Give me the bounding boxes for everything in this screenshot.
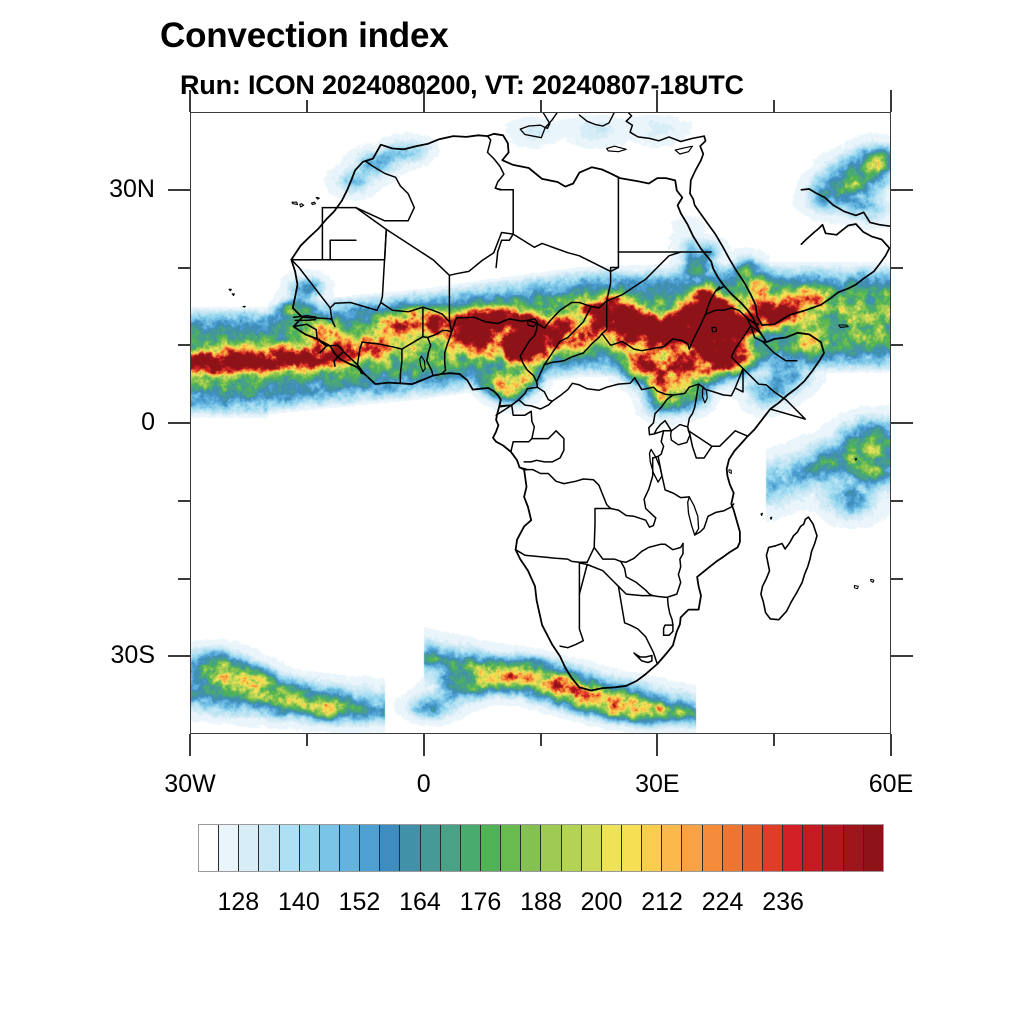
y-axis-label: 30N	[35, 175, 155, 204]
y-tick	[178, 578, 190, 580]
coastline-path	[871, 579, 874, 582]
colorbar-cell[interactable]	[844, 825, 864, 871]
y-tick-right	[891, 344, 903, 346]
coastline-path	[229, 289, 231, 291]
coastline-path	[602, 334, 689, 351]
coastline-path	[626, 112, 743, 142]
x-tick-top	[540, 100, 542, 112]
colorbar-cell[interactable]	[582, 825, 602, 871]
coastline-path	[442, 332, 452, 374]
coastline-path	[635, 369, 743, 396]
coastline-path	[232, 294, 234, 296]
colorbar-cell[interactable]	[682, 825, 702, 871]
coastline-path	[428, 331, 452, 338]
colorbar-cell[interactable]	[300, 825, 320, 871]
coastline-path	[330, 240, 356, 259]
x-tick	[423, 734, 425, 756]
colorbar-cell[interactable]	[239, 825, 259, 871]
colorbar-cell[interactable]	[360, 825, 380, 871]
colorbar-cell[interactable]	[622, 825, 642, 871]
colorbar-cell[interactable]	[743, 825, 763, 871]
colorbar-cell[interactable]	[259, 825, 279, 871]
coastline-path	[688, 427, 748, 446]
coastline-path	[854, 586, 858, 589]
y-tick	[168, 422, 190, 424]
coastline-path	[537, 306, 592, 381]
colorbar[interactable]	[198, 824, 884, 872]
page-title: Convection index	[160, 16, 449, 56]
coastline-path	[801, 189, 891, 226]
coastline-path	[761, 513, 763, 515]
x-tick	[306, 734, 308, 746]
coastline-path	[402, 337, 428, 349]
colorbar-tick-label: 236	[738, 888, 828, 917]
colorbar-cell[interactable]	[340, 825, 360, 871]
y-tick	[178, 500, 190, 502]
coastline-path	[688, 497, 699, 535]
coastline-path	[688, 384, 699, 427]
colorbar-cell[interactable]	[541, 825, 561, 871]
coastline-path	[653, 596, 668, 598]
coastline-path	[300, 204, 304, 207]
colorbar-cell[interactable]	[703, 825, 723, 871]
y-tick-right	[891, 189, 913, 191]
coastline-path	[482, 112, 562, 128]
y-tick	[168, 655, 190, 657]
coastline-path	[560, 563, 653, 648]
coastline-path	[668, 544, 684, 598]
x-axis-label: 0	[354, 770, 494, 799]
colorbar-cell[interactable]	[421, 825, 441, 871]
coastline-path	[611, 173, 619, 177]
y-tick-right	[891, 578, 903, 580]
colorbar-cell[interactable]	[864, 825, 883, 871]
coastline-path	[381, 303, 452, 333]
coastline-path	[511, 405, 534, 452]
colorbar-cell[interactable]	[400, 825, 420, 871]
x-tick	[189, 734, 191, 756]
coastline-path	[579, 565, 587, 595]
coastline-path	[611, 458, 656, 527]
y-tick-right	[891, 267, 903, 269]
colorbar-cell[interactable]	[562, 825, 582, 871]
coastline-path	[330, 229, 386, 310]
coastline-path	[668, 597, 673, 631]
colorbar-cell[interactable]	[501, 825, 521, 871]
colorbar-cell[interactable]	[823, 825, 843, 871]
coastline-path	[690, 194, 762, 325]
colorbar-cell[interactable]	[662, 825, 682, 871]
coastline-path	[316, 198, 319, 200]
colorbar-cell[interactable]	[803, 825, 823, 871]
colorbar-cell[interactable]	[602, 825, 622, 871]
x-tick	[540, 734, 542, 746]
coastline-path	[706, 308, 759, 324]
colorbar-cell[interactable]	[481, 825, 501, 871]
coastline-path	[762, 224, 890, 325]
colorbar-cell[interactable]	[441, 825, 461, 871]
colorbar-cell[interactable]	[320, 825, 340, 871]
coastline-path	[689, 287, 719, 349]
coastline-path	[452, 317, 528, 332]
coastline-path	[635, 378, 642, 390]
coastline-path	[594, 544, 683, 563]
coastline-path	[770, 517, 772, 519]
colorbar-cell[interactable]	[199, 825, 219, 871]
coastline-path	[291, 134, 824, 691]
x-tick	[773, 734, 775, 746]
coastline-path	[330, 308, 332, 320]
figure-root: Convection index Run: ICON 2024080200, V…	[0, 0, 1024, 1024]
y-tick-right	[891, 500, 903, 502]
colorbar-cell[interactable]	[521, 825, 541, 871]
coastline-path	[607, 268, 619, 301]
coastline-path	[658, 456, 689, 497]
coastline-path	[243, 306, 245, 307]
x-tick	[656, 734, 658, 756]
colorbar-cell[interactable]	[763, 825, 783, 871]
coastline-path	[537, 378, 634, 401]
coastline-path	[334, 361, 335, 366]
coastline-path	[358, 342, 402, 383]
x-tick-top	[656, 90, 658, 112]
page-subtitle: Run: ICON 2024080200, VT: 20240807-18UTC	[180, 70, 744, 101]
x-axis-label: 30W	[120, 770, 260, 799]
coastline-path	[675, 146, 692, 154]
colorbar-cell[interactable]	[380, 825, 400, 871]
coastline-path	[520, 125, 545, 138]
y-tick-right	[891, 422, 913, 424]
coastline-path	[618, 586, 657, 664]
x-tick-top	[423, 90, 425, 112]
map-plot-area	[190, 112, 891, 734]
coastline-path	[695, 504, 734, 535]
coastline-path	[634, 653, 652, 662]
coastline-path	[664, 625, 673, 635]
y-tick	[168, 189, 190, 191]
coastline-path	[763, 341, 797, 360]
coastline-path	[839, 325, 848, 327]
colorbar-cell[interactable]	[219, 825, 239, 871]
y-axis-label: 0	[35, 408, 155, 437]
x-axis-label: 60E	[821, 770, 961, 799]
coastline-path	[761, 517, 817, 620]
x-tick-top	[306, 100, 308, 112]
coastline-path	[495, 188, 513, 190]
y-tick	[178, 344, 190, 346]
coastline-path	[420, 356, 425, 372]
coastline-path	[320, 346, 326, 353]
coastline-path	[500, 320, 537, 406]
coastline-overlay	[190, 112, 891, 734]
colorbar-cell[interactable]	[461, 825, 481, 871]
coastline-path	[356, 161, 414, 221]
colorbar-cell[interactable]	[783, 825, 803, 871]
x-tick-top	[890, 90, 892, 112]
y-axis-label: 30S	[35, 641, 155, 670]
coastline-path	[534, 330, 536, 336]
colorbar-cell[interactable]	[642, 825, 662, 871]
coastline-path	[386, 229, 513, 275]
coastline-path	[621, 561, 653, 595]
coastline-path	[427, 338, 433, 376]
x-tick	[890, 734, 892, 756]
coastline-path	[537, 301, 606, 328]
y-tick	[178, 267, 190, 269]
y-tick-right	[891, 655, 913, 657]
coastline-path	[513, 234, 618, 271]
coastline-path	[855, 459, 857, 461]
coastline-path	[690, 136, 706, 194]
coastline-path	[607, 146, 627, 152]
colorbar-cell[interactable]	[280, 825, 300, 871]
coastline-path	[712, 327, 717, 332]
coastline-path	[295, 320, 315, 321]
x-tick-top	[773, 100, 775, 112]
coastline-path	[524, 431, 564, 462]
x-axis-label: 30E	[587, 770, 727, 799]
coastline-path	[312, 202, 316, 204]
colorbar-cell[interactable]	[723, 825, 743, 871]
coastline-path	[729, 470, 731, 474]
coastline-path	[533, 112, 615, 126]
coastline-path	[292, 202, 298, 204]
x-tick-top	[189, 90, 191, 112]
coastline-path	[544, 301, 606, 365]
